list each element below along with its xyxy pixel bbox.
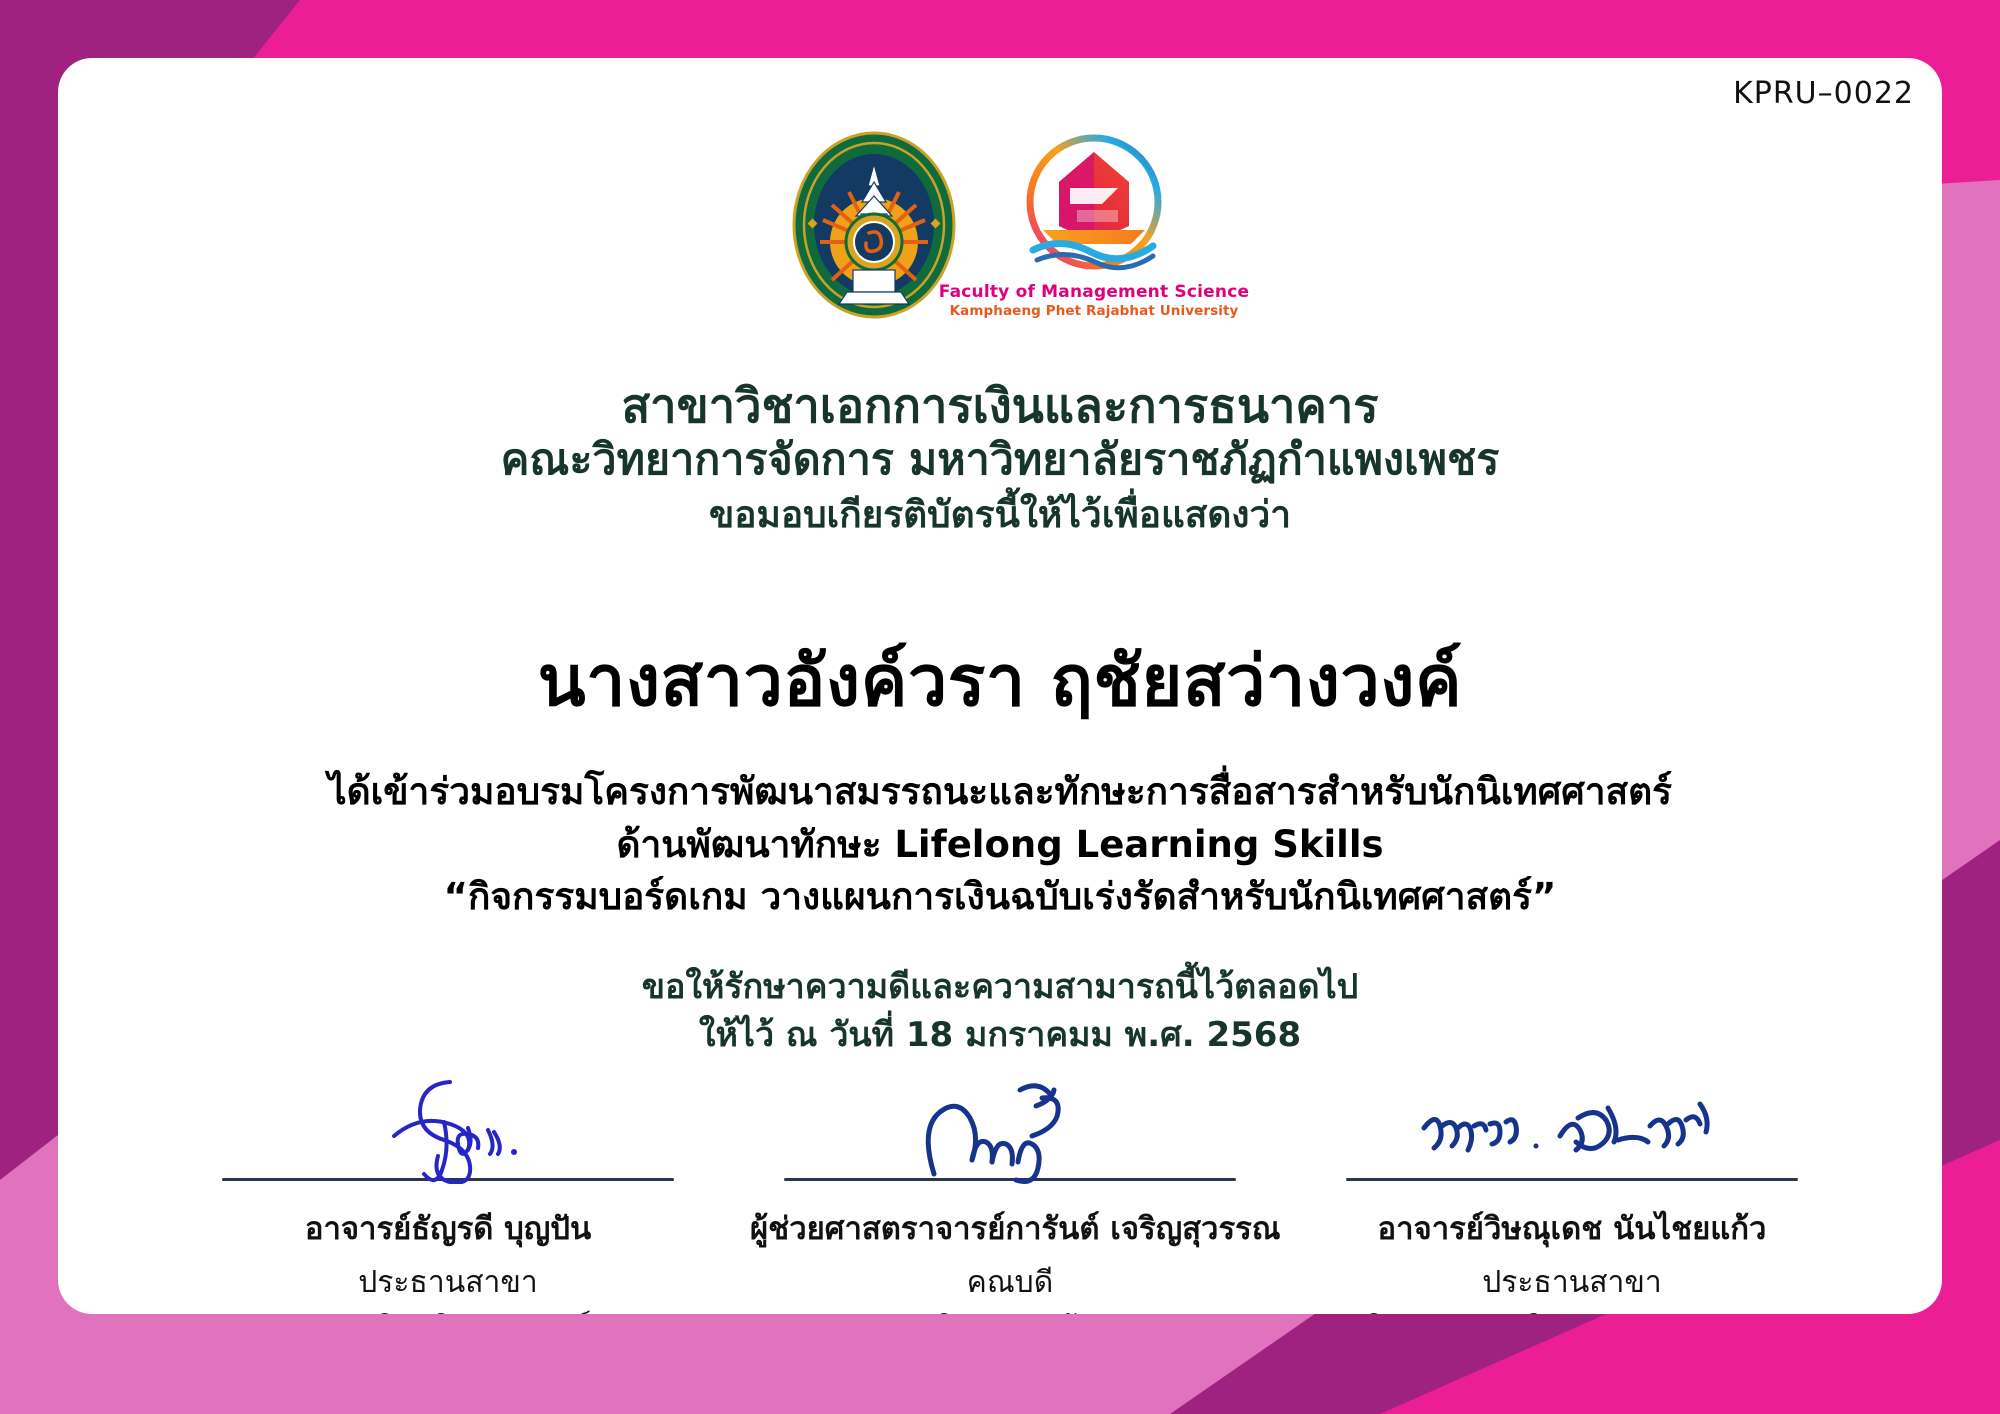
heading-line-awards: ขอมอบเกียรติบัตรนี้ให้ไว้เพื่อแสดงว่า [58, 491, 1942, 539]
closing-block: ขอให้รักษาความดีและความสามารถนี้ไว้ตลอดไ… [58, 963, 1942, 1060]
heading-block: สาขาวิชาเอกการเงินและการธนาคาร คณะวิทยาก… [58, 380, 1942, 539]
logo-row: Faculty of Management Science Kamphaeng … [58, 130, 1942, 322]
body-block: ได้เข้าร่วมอบรมโครงการพัฒนาสมรรถนะและทัก… [58, 766, 1942, 924]
faculty-of-management-science-icon: Faculty of Management Science Kamphaeng … [979, 130, 1209, 322]
signature-ink-3 [1312, 1078, 1832, 1178]
fms-mark-svg [1007, 130, 1181, 280]
signature-block-3: อาจารย์วิษณุเดช นันไชยแก้ว ประธานสาขา วิ… [1312, 1078, 1832, 1314]
signatory-name-3: อาจารย์วิษณุเดช นันไชยแก้ว [1312, 1203, 1832, 1253]
handwritten-signature-2-icon [860, 1074, 1160, 1184]
signature-ink-1 [188, 1078, 708, 1178]
fms-caption-line2: Kamphaeng Phet Rajabhat University [950, 303, 1239, 319]
fms-caption-line1: Faculty of Management Science [939, 282, 1249, 302]
body-line-2: ด้านพัฒนาทักษะ Lifelong Learning Skills [58, 819, 1942, 872]
recipient-name: นางสาวอังค์วรา ฤชัยสว่างวงค์ [58, 625, 1942, 736]
signatory-role-2: คณบดี [750, 1263, 1270, 1302]
signatory-role-3: ประธานสาขา [1312, 1263, 1832, 1302]
signature-row: อาจารย์ธัญรดี บุญปัน ประธานสาขา สาขาวิชา… [188, 1078, 1832, 1314]
certificate-serial-number: KPRU–0022 [1733, 76, 1914, 111]
certificate-card: Faculty of Management Science Kamphaeng … [58, 58, 1942, 1314]
signatory-role-1: ประธานสาขา [188, 1263, 708, 1302]
signature-block-2: ผู้ช่วยศาสตราจารย์การันต์ เจริญสุวรรณ คณ… [750, 1078, 1270, 1314]
kpru-university-seal-icon [791, 130, 957, 320]
signature-block-1: อาจารย์ธัญรดี บุญปัน ประธานสาขา สาขาวิชา… [188, 1078, 708, 1314]
signatory-dept-2: คณะวิทยาการจัดการ [750, 1308, 1270, 1314]
heading-line-major: สาขาวิชาเอกการเงินและการธนาคาร [58, 380, 1942, 435]
body-line-3: “กิจกรรมบอร์ดเกม วางแผนการเงินฉบับเร่งรั… [58, 871, 1942, 924]
handwritten-signature-1-icon [298, 1074, 598, 1184]
signatory-name-1: อาจารย์ธัญรดี บุญปัน [188, 1203, 708, 1253]
handwritten-signature-3-icon [1402, 1074, 1742, 1184]
signatory-name-2: ผู้ช่วยศาสตราจารย์การันต์ เจริญสุวรรณ [750, 1203, 1270, 1253]
heading-line-faculty: คณะวิทยาการจัดการ มหาวิทยาลัยราชภัฏกำแพง… [58, 435, 1942, 486]
signatory-dept-3: วิชาเอกการเงินและการธนาคาร [1312, 1308, 1832, 1314]
closing-line-1: ขอให้รักษาความดีและความสามารถนี้ไว้ตลอดไ… [58, 963, 1942, 1011]
signatory-dept-1: สาขาวิชานิเทศศาสตร์ [188, 1308, 708, 1314]
closing-line-date: ให้ไว้ ณ วันที่ 18 มกราคมม พ.ศ. 2568 [58, 1011, 1942, 1059]
signature-ink-2 [750, 1078, 1270, 1178]
kpru-seal-svg [791, 130, 957, 320]
body-line-1: ได้เข้าร่วมอบรมโครงการพัฒนาสมรรถนะและทัก… [58, 766, 1942, 819]
